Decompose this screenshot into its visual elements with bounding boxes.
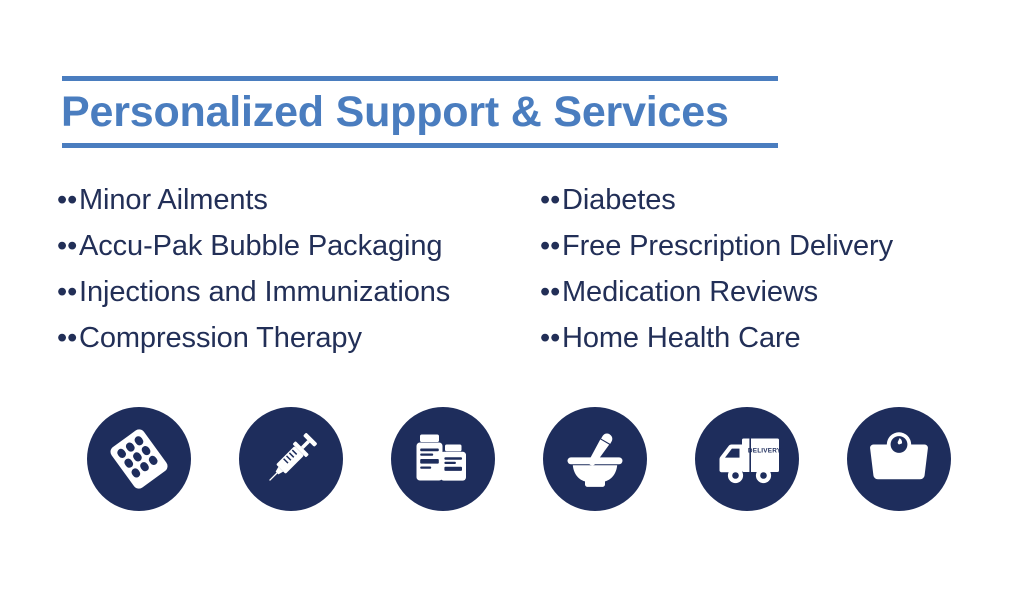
- divider-top: [62, 76, 778, 81]
- list-item: • Medication Reviews: [538, 272, 1008, 318]
- blister-pack-pills-icon: [106, 426, 172, 492]
- truck-delivery-label: DELIVERY: [748, 448, 782, 455]
- page-title: Personalized Support & Services: [61, 85, 821, 141]
- bullet-icon: •: [538, 272, 562, 312]
- list-item-label: Minor Ailments: [79, 180, 525, 220]
- icon-badge-syringe: [239, 407, 343, 511]
- list-item: • Diabetes: [538, 180, 1008, 226]
- bullet-icon: •: [55, 272, 79, 312]
- list-item-label: Compression Therapy: [79, 318, 525, 358]
- icon-badge-delivery-truck: DELIVERY: [695, 407, 799, 511]
- list-item-label: Free Prescription Delivery: [562, 226, 1008, 266]
- services-list-left: • Minor Ailments • Accu-Pak Bubble Packa…: [55, 180, 525, 364]
- mortar-and-pestle-icon: [560, 424, 630, 494]
- icon-badge-weight-scale: [847, 407, 951, 511]
- list-item: • Injections and Immunizations: [55, 272, 525, 318]
- bullet-icon: •: [538, 180, 562, 220]
- list-item: • Free Prescription Delivery: [538, 226, 1008, 272]
- pill-bottles-icon: [412, 428, 474, 490]
- list-item: • Compression Therapy: [55, 318, 525, 364]
- icon-badge-pill-bottles: [391, 407, 495, 511]
- bullet-icon: •: [538, 318, 562, 358]
- list-item-label: Accu-Pak Bubble Packaging: [79, 226, 525, 266]
- syringe-icon: [258, 426, 324, 492]
- list-item-label: Home Health Care: [562, 318, 1008, 358]
- icon-badge-blister-pack: [87, 407, 191, 511]
- delivery-truck-icon: DELIVERY: [711, 423, 783, 495]
- list-item-label: Diabetes: [562, 180, 1008, 220]
- list-item: • Minor Ailments: [55, 180, 525, 226]
- list-item-label: Medication Reviews: [562, 272, 1008, 312]
- bullet-icon: •: [55, 226, 79, 266]
- service-icon-row: DELIVERY: [0, 407, 1025, 512]
- slide-canvas: Personalized Support & Services • Minor …: [0, 0, 1025, 590]
- bullet-icon: •: [55, 318, 79, 358]
- weight-scale-icon: [866, 426, 932, 492]
- icon-badge-mortar-pestle: [543, 407, 647, 511]
- list-item: • Accu-Pak Bubble Packaging: [55, 226, 525, 272]
- list-item-label: Injections and Immunizations: [79, 272, 525, 312]
- bullet-icon: •: [538, 226, 562, 266]
- list-item: • Home Health Care: [538, 318, 1008, 364]
- bullet-icon: •: [55, 180, 79, 220]
- divider-bottom: [62, 143, 778, 148]
- services-list-right: • Diabetes • Free Prescription Delivery …: [538, 180, 1008, 364]
